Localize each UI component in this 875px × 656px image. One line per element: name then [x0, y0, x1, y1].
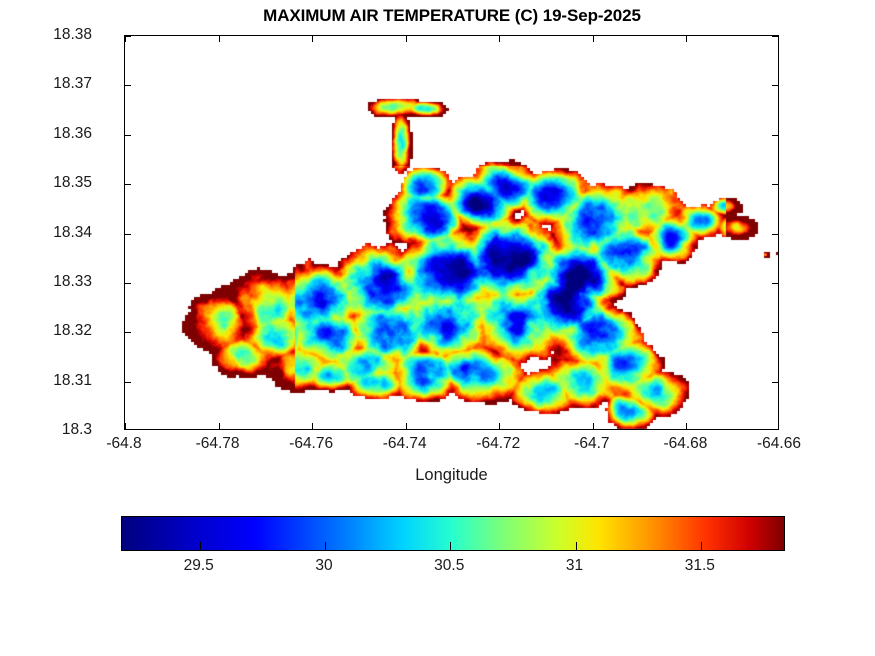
x-axis-tick — [312, 423, 313, 430]
x-axis-tick-label: -64.72 — [453, 435, 543, 453]
y-axis-tick-label: 18.31 — [22, 372, 92, 390]
y-axis-tick-label: 18.36 — [22, 125, 92, 143]
x-axis-tick-label: -64.68 — [640, 435, 730, 453]
x-axis-tick — [125, 423, 126, 430]
x-axis-tick — [499, 35, 500, 42]
y-axis-tick — [124, 382, 131, 383]
y-axis-tick-label: 18.37 — [22, 75, 92, 93]
colorbar-tick — [576, 542, 577, 550]
colorbar-tick — [200, 542, 201, 550]
y-axis-tick — [772, 85, 779, 86]
y-axis-tick — [124, 234, 131, 235]
temperature-heatmap — [125, 36, 779, 430]
x-axis-tick — [499, 423, 500, 430]
page-title: MAXIMUM AIR TEMPERATURE (C) 19-Sep-2025 — [124, 6, 780, 26]
x-axis-tick — [593, 423, 594, 430]
colorbar-tick-label: 30.5 — [414, 557, 484, 575]
figure-canvas: MAXIMUM AIR TEMPERATURE (C) 19-Sep-2025 … — [0, 0, 875, 656]
y-axis-tick-label: 18.34 — [22, 224, 92, 242]
y-axis-tick-label: 18.38 — [22, 26, 92, 44]
x-axis-tick — [312, 35, 313, 42]
x-axis-tick — [219, 423, 220, 430]
y-axis-tick — [772, 234, 779, 235]
y-axis-tick — [772, 382, 779, 383]
colorbar-tick — [701, 542, 702, 550]
colorbar-tick-label: 29.5 — [164, 557, 234, 575]
colorbar-tick-label: 31 — [540, 557, 610, 575]
colorbar-tick — [450, 542, 451, 550]
y-axis-tick — [772, 332, 779, 333]
colorbar-tick-label: 31.5 — [665, 557, 735, 575]
colorbar[interactable] — [121, 516, 785, 551]
colorbar-tick-label: 30 — [289, 557, 359, 575]
x-axis-tick-label: -64.76 — [266, 435, 356, 453]
colorbar-gradient — [122, 517, 784, 550]
x-axis-tick-label: -64.8 — [79, 435, 169, 453]
x-axis-tick-label: -64.78 — [173, 435, 263, 453]
y-axis-tick — [772, 135, 779, 136]
y-axis-tick — [772, 184, 779, 185]
x-axis-tick — [593, 35, 594, 42]
y-axis-tick — [124, 135, 131, 136]
y-axis-tick-label: 18.33 — [22, 273, 92, 291]
map-axes[interactable] — [124, 35, 779, 430]
x-axis-tick-label: -64.74 — [360, 435, 450, 453]
x-axis-tick — [406, 423, 407, 430]
x-axis-tick-label: -64.7 — [547, 435, 637, 453]
x-axis-tick — [219, 35, 220, 42]
x-axis-tick — [686, 423, 687, 430]
x-axis-tick — [125, 35, 126, 42]
x-axis-title: Longitude — [124, 466, 779, 485]
y-axis-tick — [124, 184, 131, 185]
x-axis-tick-label: -64.66 — [734, 435, 824, 453]
y-axis-tick-label: 18.35 — [22, 174, 92, 192]
x-axis-tick — [406, 35, 407, 42]
y-axis-tick-label: 18.32 — [22, 322, 92, 340]
y-axis-tick — [124, 332, 131, 333]
colorbar-tick — [325, 542, 326, 550]
x-axis-tick — [686, 35, 687, 42]
y-axis-tick — [124, 85, 131, 86]
y-axis-tick — [772, 36, 779, 37]
y-axis-tick — [124, 283, 131, 284]
y-axis-tick — [772, 283, 779, 284]
